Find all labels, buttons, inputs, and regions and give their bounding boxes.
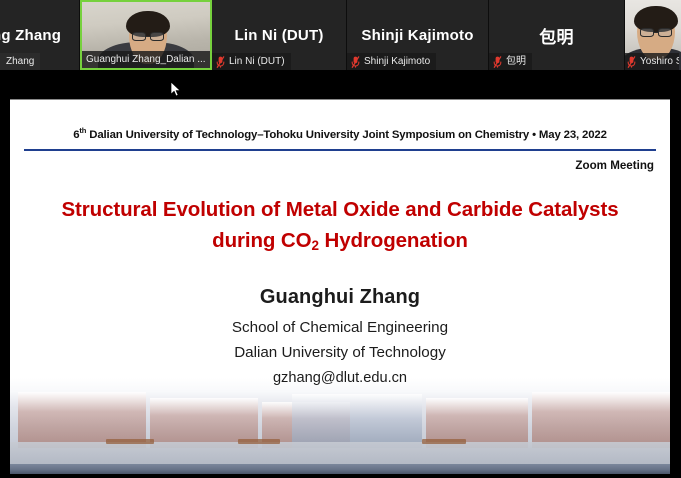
slide-title: Structural Evolution of Metal Oxide and … <box>10 194 670 256</box>
conference-title-line: 6th Dalian University of Technology–Toho… <box>24 126 656 141</box>
participant-tile-1[interactable]: ng Zhang Zhang <box>0 0 80 70</box>
slide-header: 6th Dalian University of Technology–Toho… <box>10 100 670 172</box>
participant-label-2: Guanghui Zhang_Dalian ... <box>86 53 206 66</box>
presentation-slide: 6th Dalian University of Technology–Toho… <box>10 99 670 474</box>
participant-label-3: Lin Ni (DUT) <box>229 55 285 68</box>
slide-title-line-2-post: Hydrogenation <box>319 229 468 252</box>
participant-label-6: Yoshiro Saito <box>640 55 679 68</box>
mouse-pointer-icon <box>171 82 181 97</box>
mic-muted-icon <box>216 56 225 68</box>
author-affiliation-line-1: School of Chemical Engineering <box>10 317 670 340</box>
participant-tile-4[interactable]: Shinji Kajimoto Shinji Kajimoto <box>347 0 489 70</box>
participant-label-1: Zhang <box>6 55 34 68</box>
slide-title-co2-subscript: 2 <box>311 238 318 253</box>
participant-name-strip-3: Lin Ni (DUT) <box>212 53 291 70</box>
participant-tile-6[interactable]: Yoshiro Saito <box>625 0 681 70</box>
meeting-label: Zoom Meeting <box>24 159 656 172</box>
participant-name-strip-2: Guanghui Zhang_Dalian ... <box>82 51 210 68</box>
participant-name-strip-5: 包明 <box>489 53 532 70</box>
participant-tile-3[interactable]: Lin Ni (DUT) Lin Ni (DUT) <box>212 0 347 70</box>
participant-filmstrip[interactable]: ng Zhang Zhang Guanghui Zhang_Dalian ... <box>0 0 681 70</box>
slide-title-line-1: Structural Evolution of Metal Oxide and … <box>36 194 644 225</box>
conference-title-text: Dalian University of Technology–Tohoku U… <box>86 129 607 141</box>
mic-muted-icon <box>493 56 502 68</box>
mic-muted-icon <box>627 56 636 68</box>
slide-author-block: Guanghui Zhang School of Chemical Engine… <box>10 286 670 386</box>
participant-tile-2-active-speaker[interactable]: Guanghui Zhang_Dalian ... <box>80 0 212 70</box>
campus-background-photo <box>10 378 670 474</box>
slide-title-line-2-pre: during CO <box>212 229 311 252</box>
author-name: Guanghui Zhang <box>10 286 670 309</box>
participant-name-strip-6: Yoshiro Saito <box>625 53 679 70</box>
author-email: gzhang@dlut.edu.cn <box>10 370 670 386</box>
slide-title-line-2: during CO2 Hydrogenation <box>36 225 644 256</box>
shared-content-frame: 6th Dalian University of Technology–Toho… <box>0 99 681 478</box>
participant-label-4: Shinji Kajimoto <box>364 55 430 68</box>
participant-name-strip-4: Shinji Kajimoto <box>347 53 436 70</box>
participant-tile-5[interactable]: 包明 包明 <box>489 0 625 70</box>
author-affiliation-line-2: Dalian University of Technology <box>10 342 670 365</box>
zoom-meeting-window: ng Zhang Zhang Guanghui Zhang_Dalian ... <box>0 0 681 478</box>
mic-muted-icon <box>351 56 360 68</box>
shared-screen-letterbox <box>0 70 681 100</box>
header-divider-rule <box>24 149 656 151</box>
participant-name-strip-1: Zhang <box>0 53 40 70</box>
participant-label-5: 包明 <box>506 55 526 68</box>
